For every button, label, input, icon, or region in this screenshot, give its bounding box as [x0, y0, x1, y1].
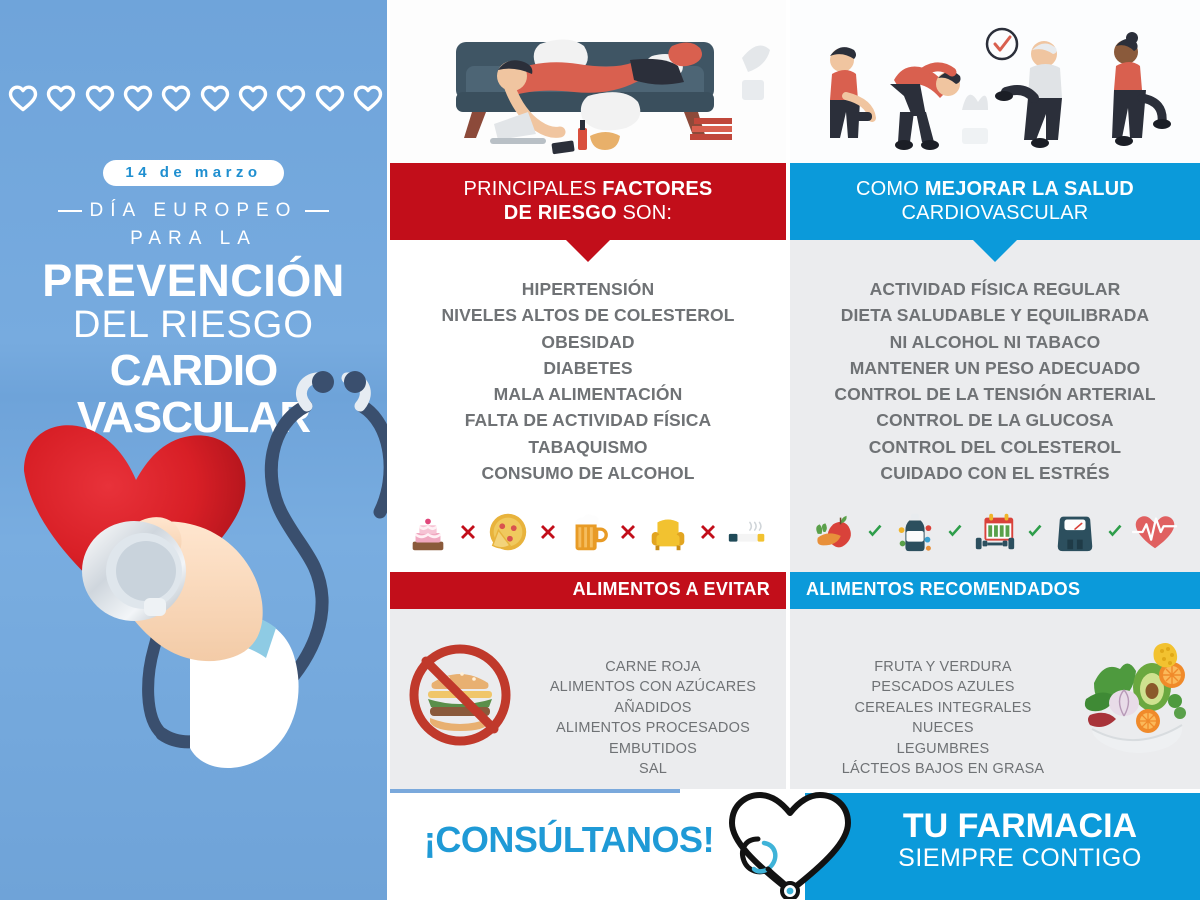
hand-stethoscope-heart-icon: [0, 366, 387, 786]
risk-header-pre: PRINCIPALES: [464, 178, 603, 200]
list-item: CONTROL DE LA TENSIÓN ARTERIAL: [800, 381, 1190, 407]
list-item: DIABETES: [400, 355, 776, 381]
notch-down-icon: [971, 238, 1019, 262]
improve-header-line1: COMO MEJORAR LA SALUD: [810, 177, 1180, 201]
list-item: MANTENER UN PESO ADECUADO: [800, 355, 1190, 381]
list-item: NIVELES ALTOS DE COLESTEROL: [400, 302, 776, 328]
list-item: HIPERTENSIÓN: [400, 276, 776, 302]
list-item: CONSUMO DE ALCOHOL: [400, 460, 776, 486]
list-item: ACTIVIDAD FÍSICA REGULAR: [800, 276, 1190, 302]
risk-header-bold: FACTORES: [602, 178, 712, 200]
heart-outline-icon: [161, 84, 191, 112]
list-item: CONTROL DEL COLESTEROL: [800, 434, 1190, 460]
date-pill: 14 de marzo: [103, 160, 283, 186]
infographic-poster: 14 de marzo DÍA EUROPEO PARA LA PREVENCI…: [0, 0, 1200, 900]
risk-header-bar: PRINCIPALES FACTORES DE RIESGO SON:: [390, 163, 786, 240]
green-check-icon: [1027, 524, 1043, 540]
improve-icon-row: [790, 492, 1200, 572]
heartbeat-icon: [1129, 506, 1181, 558]
heart-outline-icon: [200, 84, 230, 112]
green-check-icon: [867, 524, 883, 540]
no-junk-food-icon: [404, 639, 516, 751]
heart-outline-icon: [276, 84, 306, 112]
weight-scale-icon: [1049, 506, 1101, 558]
heart-with-stethoscope-logo-icon: [720, 787, 860, 899]
line-del-riesgo: DEL RIESGO: [0, 304, 387, 347]
improve-column: COMO MEJORAR LA SALUD CARDIOVASCULAR ACT…: [790, 0, 1200, 814]
recommended-list: FRUTA Y VERDURAPESCADOS AZULESCEREALES I…: [804, 657, 1082, 780]
risk-header-line2-bold: DE RIESGO: [504, 202, 617, 224]
risk-icon-row: [390, 492, 786, 572]
brand-tagline: SIEMPRE CONTIGO: [845, 844, 1195, 873]
water-bottle-pills-icon: [889, 506, 941, 558]
brand-block: TU FARMACIA SIEMPRE CONTIGO: [845, 807, 1195, 873]
red-cross-icon: [620, 524, 636, 540]
list-item: CARNE ROJA: [530, 657, 776, 678]
list-item: LEGUMBRES: [804, 739, 1082, 760]
consultanos-cta[interactable]: ¡CONSÚLTANOS!: [404, 819, 734, 861]
list-item: FALTA DE ACTIVIDAD FÍSICA: [400, 407, 776, 433]
heart-outline-icon: [85, 84, 115, 112]
green-check-icon: [947, 524, 963, 540]
list-item: SAL: [530, 759, 776, 780]
avoid-list: CARNE ROJAALIMENTOS CON AZÚCARES AÑADIDO…: [530, 657, 776, 780]
footer-bar: ¡CONSÚLTANOS! TU FARMACIA SIEMPRE CONTIG…: [390, 789, 1200, 900]
dash-left-icon: [58, 210, 82, 212]
heart-outline-icon: [8, 84, 38, 112]
footer-divider: [390, 789, 680, 793]
list-item: PESCADOS AZULES: [804, 677, 1082, 698]
brand-name: TU FARMACIA: [845, 807, 1195, 846]
recommended-header-bar: ALIMENTOS RECOMENDADOS: [790, 572, 1200, 609]
list-item: MALA ALIMENTACIÓN: [400, 381, 776, 407]
red-cross-icon: [460, 524, 476, 540]
list-item: TABAQUISMO: [400, 434, 776, 460]
improve-list: ACTIVIDAD FÍSICA REGULARDIETA SALUDABLE …: [790, 240, 1200, 492]
avoid-header-bar: ALIMENTOS A EVITAR: [390, 572, 786, 609]
recommended-title: ALIMENTOS RECOMENDADOS: [806, 579, 1184, 601]
risk-factors-column: PRINCIPALES FACTORES DE RIESGO SON: HIPE…: [390, 0, 786, 814]
line-prevencion: PREVENCIÓN: [0, 258, 387, 304]
notch-down-icon: [564, 238, 612, 262]
pizza-icon: [482, 506, 534, 558]
people-exercising-icon: [790, 0, 1200, 163]
green-check-icon: [1107, 524, 1123, 540]
bowl-of-fruit-and-vegetables-icon: [1080, 637, 1192, 757]
list-item: DIETA SALUDABLE Y EQUILIBRADA: [800, 302, 1190, 328]
heart-outline-icon: [238, 84, 268, 112]
list-item: CEREALES INTEGRALES: [804, 698, 1082, 719]
avoid-title: ALIMENTOS A EVITAR: [406, 579, 770, 601]
list-item: EMBUTIDOS: [530, 739, 776, 760]
improve-header-line2: CARDIOVASCULAR: [810, 201, 1180, 225]
list-item: FRUTA Y VERDURA: [804, 657, 1082, 678]
risk-list: HIPERTENSIÓNNIVELES ALTOS DE COLESTEROLO…: [390, 240, 786, 492]
heart-strip-top: [8, 78, 383, 118]
risk-header-line2: DE RIESGO SON:: [410, 201, 766, 225]
avoid-block: CARNE ROJAALIMENTOS CON AZÚCARES AÑADIDO…: [390, 609, 786, 814]
list-item: NI ALCOHOL NI TABACO: [800, 329, 1190, 355]
red-cross-icon: [540, 524, 556, 540]
risk-hero-image: [390, 0, 786, 163]
list-item: LÁCTEOS BAJOS EN GRASA: [804, 759, 1082, 780]
beer-mug-icon: [562, 506, 614, 558]
left-hero-panel: 14 de marzo DÍA EUROPEO PARA LA PREVENCI…: [0, 0, 387, 900]
line-para-la: PARA LA: [0, 228, 387, 250]
list-item: OBESIDAD: [400, 329, 776, 355]
armchair-icon: [642, 506, 694, 558]
calendar-dumbbell-icon: [969, 506, 1021, 558]
heart-outline-icon: [315, 84, 345, 112]
list-item: ALIMENTOS PROCESADOS: [530, 718, 776, 739]
improve-header-bar: COMO MEJORAR LA SALUD CARDIOVASCULAR: [790, 163, 1200, 240]
risk-header-line2-post: SON:: [617, 202, 672, 224]
cigarette-icon: [722, 506, 774, 558]
list-item: ALIMENTOS CON AZÚCARES AÑADIDOS: [530, 677, 776, 718]
list-item: NUECES: [804, 718, 1082, 739]
risk-header-line1: PRINCIPALES FACTORES: [410, 177, 766, 201]
fruit-vegetables-icon: [809, 506, 861, 558]
list-item: CUIDADO CON EL ESTRÉS: [800, 460, 1190, 486]
list-item: CONTROL DE LA GLUCOSA: [800, 407, 1190, 433]
recommended-block: FRUTA Y VERDURAPESCADOS AZULESCEREALES I…: [790, 609, 1200, 814]
man-lying-on-sofa-icon: [390, 0, 786, 163]
heart-outline-icon: [123, 84, 153, 112]
red-cross-icon: [700, 524, 716, 540]
heart-outline-icon: [353, 84, 383, 112]
heart-outline-icon: [46, 84, 76, 112]
dash-right-icon: [305, 210, 329, 212]
dia-europeo-text: DÍA EUROPEO: [90, 200, 298, 221]
improve-hero-image: [790, 0, 1200, 163]
line-dia-europeo: DÍA EUROPEO: [0, 200, 387, 222]
improve-header-pre: COMO: [856, 178, 925, 200]
improve-header-bold: MEJORAR LA SALUD: [925, 178, 1134, 200]
cake-icon: [402, 506, 454, 558]
